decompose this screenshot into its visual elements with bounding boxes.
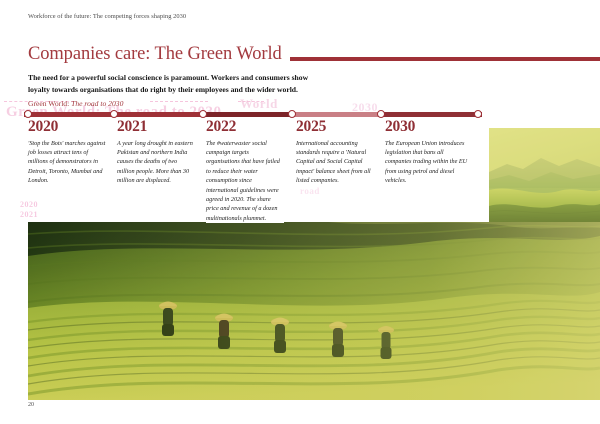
timeline-segment-2 xyxy=(112,112,204,117)
column-body: The European Union introduces legislatio… xyxy=(385,139,470,186)
column-year: 2025 xyxy=(296,119,374,135)
timeline-marker-2021 xyxy=(110,110,118,118)
rice-terrace-farmers-photo xyxy=(28,222,600,400)
column-year: 2022 xyxy=(206,119,284,135)
timeline-marker-end xyxy=(474,110,482,118)
running-head: Workforce of the future: The competing f… xyxy=(28,13,186,20)
timeline-marker-2022 xyxy=(199,110,207,118)
timeline-column-2021: 2021 A year long drought in eastern Paki… xyxy=(117,119,195,186)
column-body: 'Stop the Bots' marches against job loss… xyxy=(28,139,106,186)
title-rule xyxy=(290,57,600,61)
watermark-dash xyxy=(238,101,264,102)
watermark-text-f: road xyxy=(300,186,320,196)
timeline-segment-5 xyxy=(380,112,482,117)
timeline-label-italic: The road to 2030 xyxy=(71,99,123,108)
timeline-segment-4 xyxy=(290,112,384,117)
timeline-column-2020: 2020 'Stop the Bots' marches against job… xyxy=(28,119,106,186)
timeline-label: Green World: The road to 2030 xyxy=(28,99,123,108)
timeline-marker-2030 xyxy=(377,110,385,118)
watermark-text-d: 2020 xyxy=(20,200,38,209)
column-body: International accounting standards requi… xyxy=(296,139,374,186)
page-title-row: Companies care: The Green World xyxy=(28,44,600,68)
column-year: 2021 xyxy=(117,119,195,135)
column-year: 2020 xyxy=(28,119,106,135)
standfirst: The need for a powerful social conscienc… xyxy=(28,72,328,96)
page-title: Companies care: The Green World xyxy=(28,44,282,65)
timeline-segment-1 xyxy=(24,112,116,117)
column-body: A year long drought in eastern Pakistan … xyxy=(117,139,195,186)
column-year: 2030 xyxy=(385,119,470,135)
timeline-label-lead: Green World: xyxy=(28,99,69,108)
timeline-column-2022: 2022 The #waterwaster social campaign ta… xyxy=(206,119,284,223)
column-body: The #waterwaster social campaign targets… xyxy=(206,139,284,224)
timeline-column-2030: 2030 The European Union introduces legis… xyxy=(385,119,470,186)
magazine-page: Green World: The road to 2030 World 2030… xyxy=(0,0,600,424)
misty-green-hills-photo xyxy=(489,128,600,232)
watermark-text-e: 2021 xyxy=(20,210,38,219)
timeline-marker-2020 xyxy=(24,110,32,118)
timeline-segment-3 xyxy=(200,112,294,117)
timeline-marker-2025 xyxy=(288,110,296,118)
timeline-column-2025: 2025 International accounting standards … xyxy=(296,119,374,186)
page-number: 20 xyxy=(28,402,34,408)
watermark-dash xyxy=(150,101,208,102)
